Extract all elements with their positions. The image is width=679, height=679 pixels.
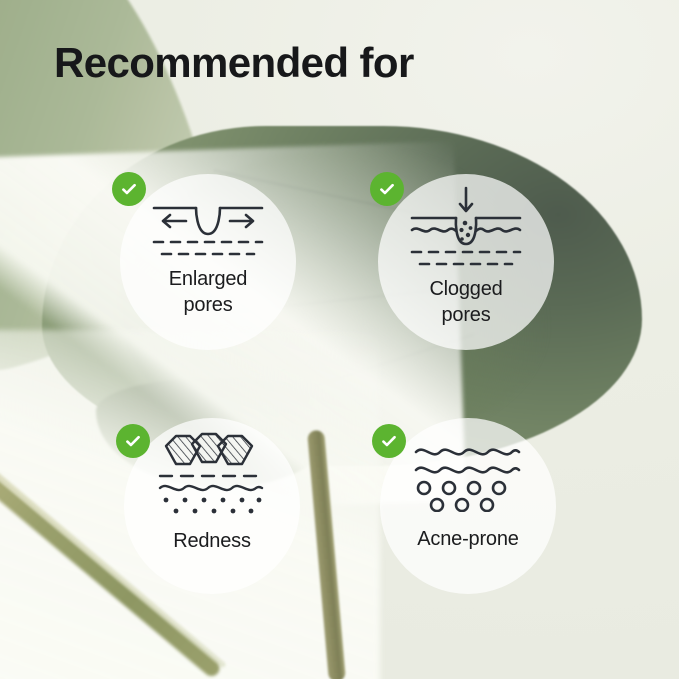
feature-label: Acne-prone bbox=[417, 527, 518, 553]
feature-card-redness: Redness bbox=[124, 418, 300, 594]
check-badge-clogged-pores bbox=[370, 172, 404, 206]
check-icon bbox=[120, 180, 138, 198]
feature-card-enlarged-pores: Enlarged pores bbox=[120, 174, 296, 350]
feature-label-line1: Enlarged bbox=[169, 267, 247, 293]
feature-card-acne-prone: Acne-prone bbox=[380, 418, 556, 594]
page-title: Recommended for bbox=[54, 41, 414, 85]
redness-icon bbox=[156, 430, 268, 519]
feature-label-line1: Acne-prone bbox=[417, 527, 518, 553]
check-icon bbox=[378, 180, 396, 198]
feature-label-line2: pores bbox=[429, 303, 502, 329]
feature-label: Redness bbox=[173, 529, 251, 555]
feature-label-line1: Clogged bbox=[429, 277, 502, 303]
background-photo bbox=[0, 0, 679, 679]
product-infographic: Recommended for Enlarged pores bbox=[0, 0, 679, 679]
clogged-pores-icon bbox=[410, 186, 522, 273]
check-badge-redness bbox=[116, 424, 150, 458]
enlarged-pores-icon bbox=[152, 196, 264, 263]
feature-label-line2: pores bbox=[169, 293, 247, 319]
check-icon bbox=[124, 432, 142, 450]
feature-label-line1: Redness bbox=[173, 529, 251, 555]
check-icon bbox=[380, 432, 398, 450]
check-badge-enlarged-pores bbox=[112, 172, 146, 206]
check-badge-acne-prone bbox=[372, 424, 406, 458]
feature-label: Enlarged pores bbox=[169, 267, 247, 318]
feature-label: Clogged pores bbox=[429, 277, 502, 328]
feature-card-clogged-pores: Clogged pores bbox=[378, 174, 554, 350]
acne-prone-icon bbox=[412, 440, 524, 517]
